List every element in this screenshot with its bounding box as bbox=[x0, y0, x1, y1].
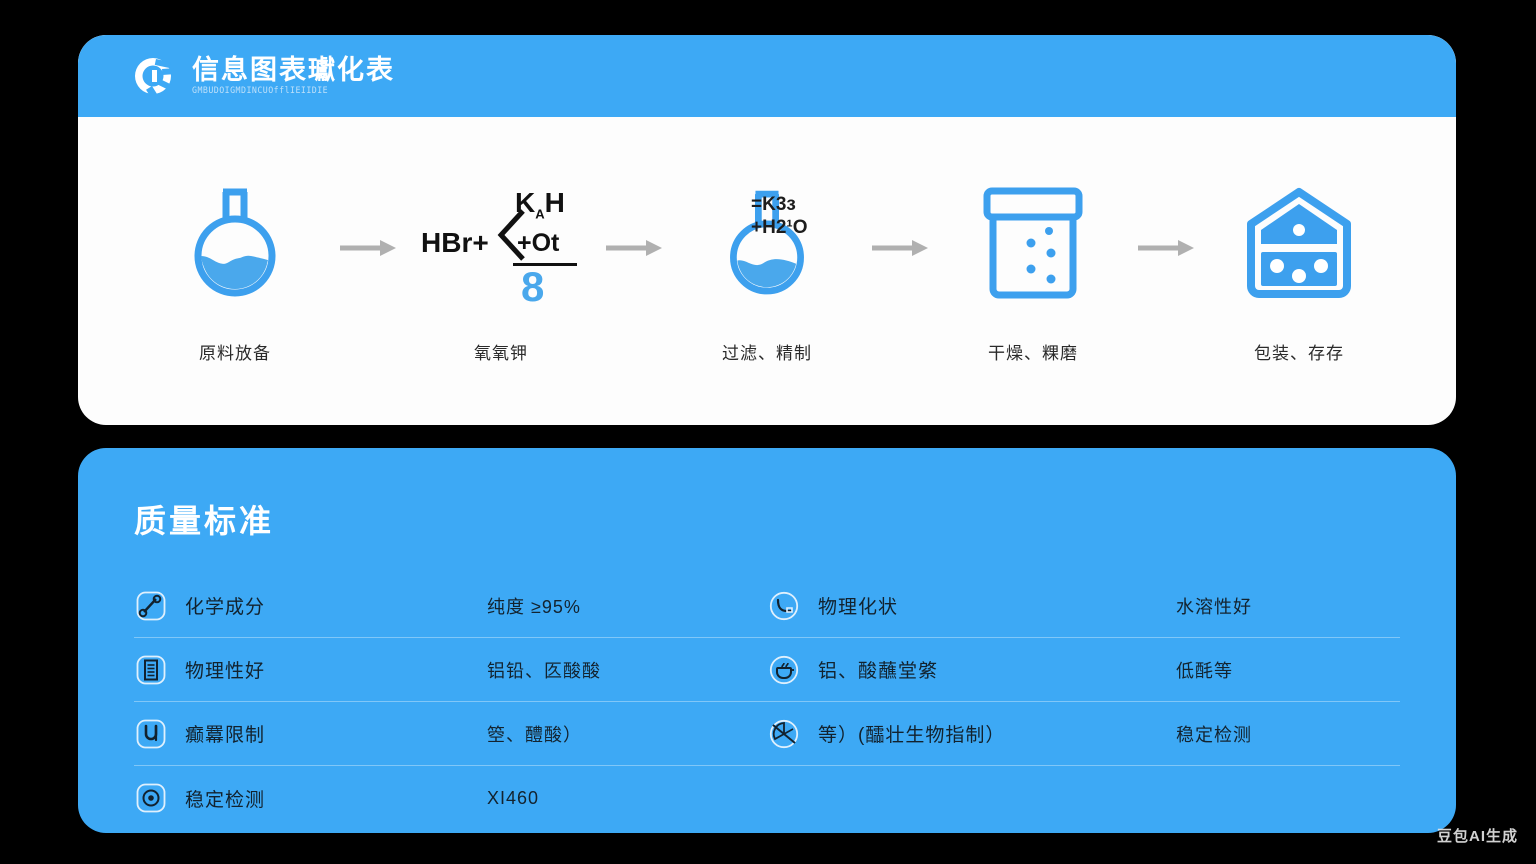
quality-item: 等）(醽壮生物指制） 稳定检测 bbox=[767, 717, 1400, 750]
brand-title: 信息图表瓛化表 bbox=[192, 56, 395, 84]
brand-text: 信息图表瓛化表 GMBUDOIGMDINCUOfflIEIIDIE bbox=[192, 56, 395, 96]
step-label: 过滤、精制 bbox=[722, 339, 812, 364]
quality-item-value: 纯度 ≥95% bbox=[487, 593, 581, 619]
process-step: HBr+ KAH +Ot 8 氧氧钾 bbox=[407, 179, 595, 364]
process-flow: 原料放备 HBr+ bbox=[78, 117, 1456, 425]
quality-item-value: 低酕等 bbox=[1176, 657, 1233, 683]
process-step: 干燥、粿磨 bbox=[939, 179, 1127, 364]
quality-item-name: 化学成分 bbox=[185, 592, 487, 619]
step-label: 干燥、粿磨 bbox=[988, 339, 1078, 364]
circular-c-logo-icon bbox=[132, 55, 174, 97]
quality-standards-card: 质量标准 化学成分 纯度 ≥95% bbox=[78, 448, 1456, 833]
round-bottom-flask-icon bbox=[141, 179, 329, 309]
quality-item: 物理化状 水溶性好 bbox=[767, 589, 1400, 622]
drying-jar-icon bbox=[939, 179, 1127, 309]
table-row: 癫羃限制 箜、醴酸） 等）(醽壮生物指制） 稳定检测 bbox=[134, 702, 1400, 766]
watermark: 豆包AI生成 bbox=[1437, 825, 1518, 846]
quality-item: 物理性好 铝铅、匛酸酸 bbox=[134, 653, 767, 686]
process-card: 信息图表瓛化表 GMBUDOIGMDINCUOfflIEIIDIE bbox=[78, 35, 1456, 425]
quality-item-name: 铝、酸蘸堂綮 bbox=[818, 656, 1176, 683]
process-step: =K3з +H2¹O 过滤、精制 bbox=[673, 179, 861, 364]
scoop-icon bbox=[767, 589, 800, 622]
flask-formula-line1: =K3з bbox=[751, 193, 808, 217]
table-row: 物理性好 铝铅、匛酸酸 铝、酸蘸堂綮 低酕等 bbox=[134, 638, 1400, 702]
equation-left: HBr+ bbox=[421, 227, 489, 259]
quality-title: 质量标准 bbox=[134, 496, 1400, 542]
table-row: 稳定检测 XI460 bbox=[134, 766, 1400, 830]
document-list-icon bbox=[134, 653, 167, 686]
process-step: 原料放备 bbox=[141, 179, 329, 364]
thermometer-icon bbox=[134, 589, 167, 622]
magnet-icon bbox=[134, 717, 167, 750]
arrow-right-icon bbox=[861, 238, 939, 258]
quality-item: 铝、酸蘸堂綮 低酕等 bbox=[767, 653, 1400, 686]
equation-mid: +Ot bbox=[517, 229, 559, 258]
slide-canvas: 信息图表瓛化表 GMBUDOIGMDINCUOfflIEIIDIE bbox=[0, 0, 1536, 864]
quality-item-name: 癫羃限制 bbox=[185, 720, 487, 747]
target-icon bbox=[134, 782, 167, 815]
equation-top: KAH bbox=[515, 187, 565, 222]
quality-item-value: 水溶性好 bbox=[1176, 593, 1252, 619]
chemical-equation-icon: HBr+ KAH +Ot 8 bbox=[407, 179, 595, 309]
quality-item-name: 物理性好 bbox=[185, 656, 487, 683]
arrow-right-icon bbox=[595, 238, 673, 258]
brand-subtitle: GMBUDOIGMDINCUOfflIEIIDIE bbox=[192, 86, 379, 96]
quality-item-value: 稳定检测 bbox=[1176, 721, 1252, 747]
quality-item: 稳定检测 XI460 bbox=[134, 782, 767, 815]
filter-flask-icon: =K3з +H2¹O bbox=[673, 179, 861, 309]
equation-number: 8 bbox=[521, 263, 544, 311]
step-label: 包装、存存 bbox=[1254, 339, 1344, 364]
quality-item-name: 稳定检测 bbox=[185, 785, 487, 812]
pie-chart-icon bbox=[767, 717, 800, 750]
quality-item-value: 箜、醴酸） bbox=[487, 721, 582, 747]
package-box-icon bbox=[1205, 179, 1393, 309]
flask-formula-line2: +H2¹O bbox=[751, 216, 808, 240]
quality-item-value: XI460 bbox=[487, 788, 539, 809]
quality-table: 化学成分 纯度 ≥95% 物理化状 水溶性好 bbox=[134, 574, 1400, 830]
quality-item-value: 铝铅、匛酸酸 bbox=[487, 657, 601, 683]
table-row: 化学成分 纯度 ≥95% 物理化状 水溶性好 bbox=[134, 574, 1400, 638]
quality-item: 癫羃限制 箜、醴酸） bbox=[134, 717, 767, 750]
card-header: 信息图表瓛化表 GMBUDOIGMDINCUOfflIEIIDIE bbox=[78, 35, 1456, 117]
quality-item-name: 物理化状 bbox=[818, 592, 1176, 619]
step-label: 氧氧钾 bbox=[474, 339, 528, 364]
process-step: 包装、存存 bbox=[1205, 179, 1393, 364]
gear-pot-icon bbox=[767, 653, 800, 686]
step-label: 原料放备 bbox=[199, 339, 271, 364]
quality-item: 化学成分 纯度 ≥95% bbox=[134, 589, 767, 622]
quality-item-name: 等）(醽壮生物指制） bbox=[818, 720, 1176, 747]
arrow-right-icon bbox=[1127, 238, 1205, 258]
flask-formula: =K3з +H2¹O bbox=[751, 193, 808, 241]
arrow-right-icon bbox=[329, 238, 407, 258]
